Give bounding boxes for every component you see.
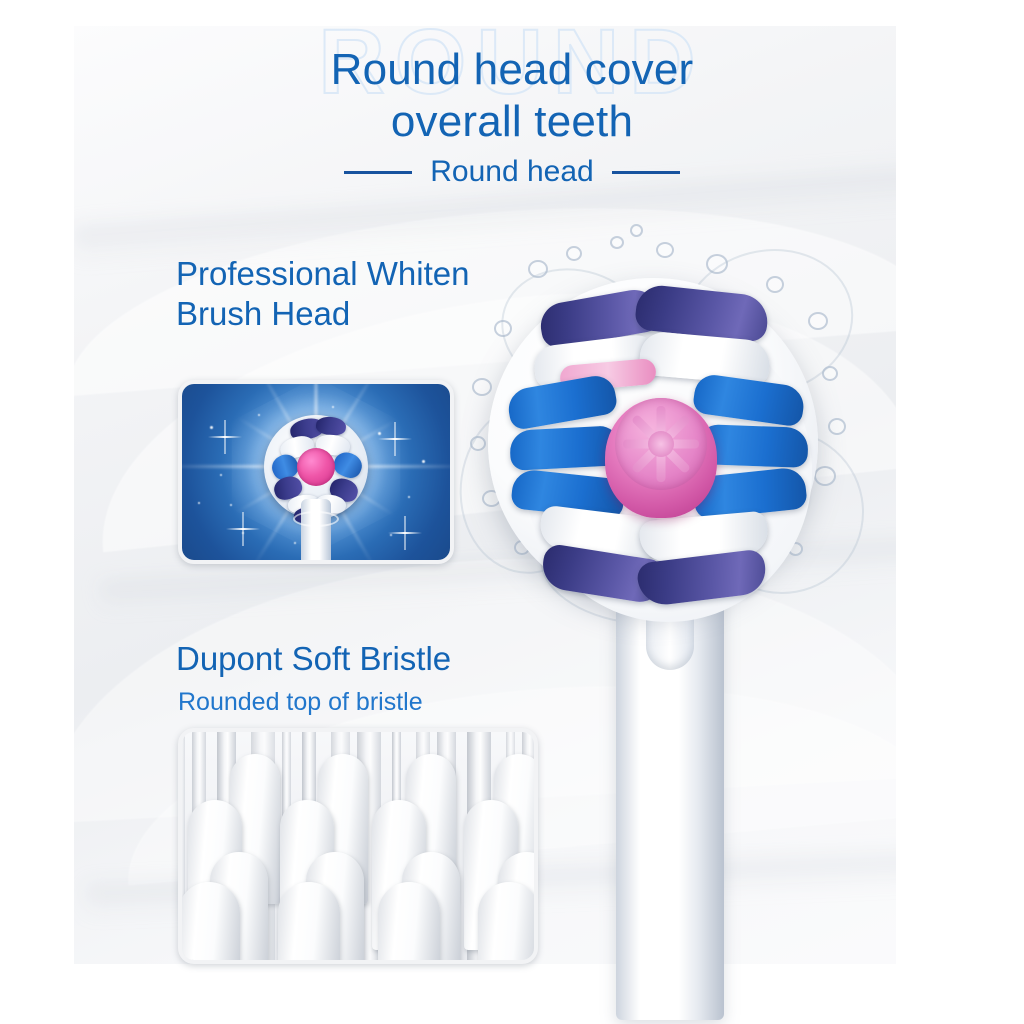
page-title: Round head cover overall teeth [0, 44, 1024, 148]
star-glint-3 [388, 516, 422, 550]
bristle-tip-3-1 [278, 882, 340, 964]
star-glint-1 [378, 422, 412, 456]
water-droplet-3 [656, 242, 674, 258]
section-heading-whiten: Professional Whiten Brush Head [176, 254, 469, 334]
product-photo [470, 250, 900, 1010]
section-heading-whiten-line-1: Professional Whiten [176, 254, 469, 294]
whitening-inset-card [178, 380, 454, 564]
cup-hub [648, 431, 674, 457]
bristle-tip-3-0 [178, 882, 240, 964]
sparkle-2 [258, 414, 260, 416]
background-margin-right [896, 0, 1024, 1024]
sparkle-11 [198, 502, 200, 504]
bristle-tip-3-3 [478, 882, 538, 964]
mini-brush-ring [293, 511, 339, 527]
star-glint-0 [208, 420, 242, 454]
subtitle-text: Round head [430, 155, 593, 189]
title-line-2: overall teeth [0, 96, 1024, 148]
water-droplet-19 [630, 224, 643, 237]
background-margin-left [0, 0, 74, 1024]
water-droplet-2 [610, 236, 624, 249]
section-heading-whiten-line-2: Brush Head [176, 294, 469, 334]
water-droplet-12 [472, 378, 492, 396]
sparkle-4 [408, 496, 410, 498]
brush-head-disc [488, 278, 818, 608]
title-line-1: Round head cover [0, 44, 1024, 96]
center-polishing-cup [605, 398, 717, 518]
water-droplet-8 [828, 418, 846, 435]
sparkle-8 [422, 460, 425, 463]
rule-left [344, 171, 412, 174]
mini-brush-center-cup [297, 448, 335, 486]
rule-right [612, 171, 680, 174]
water-droplet-1 [566, 246, 582, 261]
whitening-mini-brush-head [264, 415, 368, 519]
sparkle-7 [220, 474, 222, 476]
bristle-tip-3-2 [378, 882, 440, 964]
sparkle-9 [332, 406, 334, 408]
section-subheading-bristle: Rounded top of bristle [178, 688, 423, 717]
subtitle-group: Round head [0, 155, 1024, 189]
sparkle-10 [294, 542, 296, 544]
product-marketing-image: ROUND Round head cover overall teeth Rou… [0, 0, 1024, 1024]
mini-brush-stem [301, 499, 331, 564]
section-heading-bristle: Dupont Soft Bristle [176, 640, 451, 678]
cup-face [615, 398, 707, 490]
star-glint-2 [226, 512, 260, 546]
sparkle-1 [230, 504, 232, 506]
